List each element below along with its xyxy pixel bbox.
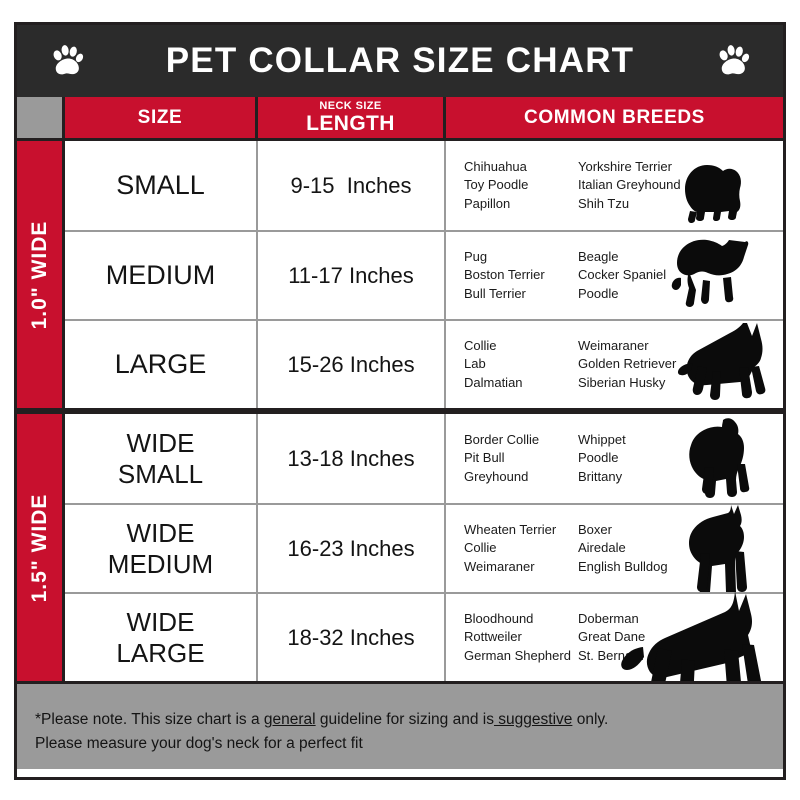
width-band-label: 1.0" WIDE [28, 220, 52, 329]
cell-breeds: Border Collie Pit Bull Greyhound Whippet… [446, 414, 783, 503]
paw-print-icon [713, 41, 753, 81]
size-label-line2: SMALL [118, 459, 203, 490]
cell-size: MEDIUM [65, 232, 258, 319]
table-row: WIDE SMALL 13-18 Inches Border Collie Pi… [65, 414, 783, 503]
size-label-line1: WIDE [127, 428, 195, 459]
breed-column-1: Chihuahua Toy Poodle Papillon [464, 158, 578, 213]
breed-column-1: Collie Lab Dalmatian [464, 337, 578, 392]
size-label-line2: LARGE [116, 638, 204, 669]
breed-column-2: Weimaraner Golden Retriever Siberian Hus… [578, 337, 708, 392]
breed-item: Whippet [578, 431, 708, 449]
cell-breeds: Collie Lab Dalmatian Weimaraner Golden R… [446, 321, 783, 408]
width-band-1-5: 1.5" WIDE [17, 414, 65, 681]
breed-column-2: Boxer Airedale English Bulldog [578, 521, 708, 576]
cell-size: SMALL [65, 141, 258, 230]
footer-text-c: only. [572, 711, 608, 728]
breed-item: Toy Poodle [464, 176, 578, 194]
breed-item: English Bulldog [578, 558, 708, 576]
breed-column-1: Border Collie Pit Bull Greyhound [464, 431, 578, 486]
footer-line-1: *Please note. This size chart is a gener… [35, 708, 783, 732]
column-header-size-label: SIZE [138, 107, 183, 129]
table-row: SMALL 9-15 Inches Chihuahua Toy Poodle P… [65, 141, 783, 230]
footer-line-2: Please measure your dog's neck for a per… [35, 732, 783, 756]
rows-1-0-wide: SMALL 9-15 Inches Chihuahua Toy Poodle P… [65, 141, 783, 408]
breed-item: Collie [464, 539, 578, 557]
size-label-line1: WIDE [127, 607, 195, 638]
breed-item: Siberian Husky [578, 374, 708, 392]
breed-item: St. Bernard [578, 647, 708, 665]
cell-size: WIDE MEDIUM [65, 505, 258, 592]
breed-item: Airedale [578, 539, 708, 557]
breed-item: Pit Bull [464, 449, 578, 467]
cell-breeds: Pug Boston Terrier Bull Terrier Beagle C… [446, 232, 783, 319]
corner-cell [17, 97, 65, 138]
table-row: WIDE LARGE 18-32 Inches Bloodhound Rottw… [65, 592, 783, 681]
table-row: WIDE MEDIUM 16-23 Inches Wheaten Terrier… [65, 503, 783, 592]
breed-item: Greyhound [464, 468, 578, 486]
footer-underline-general: general [264, 711, 316, 728]
breed-item: Papillon [464, 195, 578, 213]
breed-column-1: Wheaten Terrier Collie Weimaraner [464, 521, 578, 576]
cell-length: 16-23 Inches [258, 505, 446, 592]
breed-item: Golden Retriever [578, 355, 708, 373]
breed-item: Brittany [578, 468, 708, 486]
breed-item: Lab [464, 355, 578, 373]
footer-note: *Please note. This size chart is a gener… [17, 681, 783, 769]
cell-length: 18-32 Inches [258, 594, 446, 681]
breed-item: Italian Greyhound [578, 176, 708, 194]
cell-length: 9-15 Inches [258, 141, 446, 230]
width-band-1-0: 1.0" WIDE [17, 141, 65, 408]
cell-size: LARGE [65, 321, 258, 408]
breed-column-2: Beagle Cocker Spaniel Poodle [578, 248, 708, 303]
breed-item: Bloodhound [464, 610, 578, 628]
size-label-line2: MEDIUM [108, 549, 213, 580]
column-header-length-label: LENGTH [306, 113, 395, 134]
breed-item: Collie [464, 337, 578, 355]
breed-item: Rottweiler [464, 628, 578, 646]
breed-item: Poodle [578, 285, 708, 303]
chart-header: PET COLLAR SIZE CHART [17, 25, 783, 97]
footer-text-b: guideline for sizing and is [316, 711, 494, 728]
breed-item: Chihuahua [464, 158, 578, 176]
footer-underline-suggestive: suggestive [494, 711, 572, 728]
breed-column-2: Yorkshire Terrier Italian Greyhound Shih… [578, 158, 708, 213]
cell-length: 13-18 Inches [258, 414, 446, 503]
table-row: MEDIUM 11-17 Inches Pug Boston Terrier B… [65, 230, 783, 319]
page-title: PET COLLAR SIZE CHART [166, 41, 635, 81]
paw-print-icon [47, 41, 87, 81]
section-1-0-wide: 1.0" WIDE SMALL 9-15 Inches Chihuahua To… [17, 141, 783, 408]
section-1-5-wide: 1.5" WIDE WIDE SMALL 13-18 Inches Border… [17, 408, 783, 681]
breed-item: Weimaraner [578, 337, 708, 355]
breed-column-2: Whippet Poodle Brittany [578, 431, 708, 486]
size-label: SMALL [116, 170, 205, 202]
breed-item: Doberman [578, 610, 708, 628]
breed-item: German Shepherd [464, 647, 578, 665]
breed-item: Boxer [578, 521, 708, 539]
size-chart: PET COLLAR SIZE CHART SIZE NECK SIZE LEN… [14, 22, 786, 780]
breed-item: Bull Terrier [464, 285, 578, 303]
cell-size: WIDE SMALL [65, 414, 258, 503]
cell-breeds: Chihuahua Toy Poodle Papillon Yorkshire … [446, 141, 783, 230]
breed-item: Dalmatian [464, 374, 578, 392]
footer-text-a: *Please note. This size chart is a [35, 711, 264, 728]
breed-column-2: Doberman Great Dane St. Bernard [578, 610, 708, 665]
breed-item: Border Collie [464, 431, 578, 449]
column-header-size: SIZE [65, 97, 258, 138]
size-label: MEDIUM [106, 260, 216, 292]
breed-item: Cocker Spaniel [578, 266, 708, 284]
column-header-row: SIZE NECK SIZE LENGTH COMMON BREEDS [17, 97, 783, 141]
breed-item: Pug [464, 248, 578, 266]
cell-breeds: Bloodhound Rottweiler German Shepherd Do… [446, 594, 783, 681]
size-label-line1: WIDE [127, 518, 195, 549]
table-row: LARGE 15-26 Inches Collie Lab Dalmatian … [65, 319, 783, 408]
cell-size: WIDE LARGE [65, 594, 258, 681]
column-header-breeds-label: COMMON BREEDS [524, 107, 705, 129]
breed-item: Shih Tzu [578, 195, 708, 213]
breed-item: Beagle [578, 248, 708, 266]
breed-column-1: Bloodhound Rottweiler German Shepherd [464, 610, 578, 665]
breed-item: Wheaten Terrier [464, 521, 578, 539]
breed-item: Weimaraner [464, 558, 578, 576]
cell-length: 15-26 Inches [258, 321, 446, 408]
cell-breeds: Wheaten Terrier Collie Weimaraner Boxer … [446, 505, 783, 592]
column-header-length: NECK SIZE LENGTH [258, 97, 446, 138]
rows-1-5-wide: WIDE SMALL 13-18 Inches Border Collie Pi… [65, 414, 783, 681]
size-label: LARGE [115, 349, 207, 381]
breed-item: Great Dane [578, 628, 708, 646]
breed-item: Yorkshire Terrier [578, 158, 708, 176]
breed-item: Boston Terrier [464, 266, 578, 284]
breed-item: Poodle [578, 449, 708, 467]
cell-length: 11-17 Inches [258, 232, 446, 319]
column-header-breeds: COMMON BREEDS [446, 97, 783, 138]
breed-column-1: Pug Boston Terrier Bull Terrier [464, 248, 578, 303]
width-band-label: 1.5" WIDE [28, 493, 52, 602]
